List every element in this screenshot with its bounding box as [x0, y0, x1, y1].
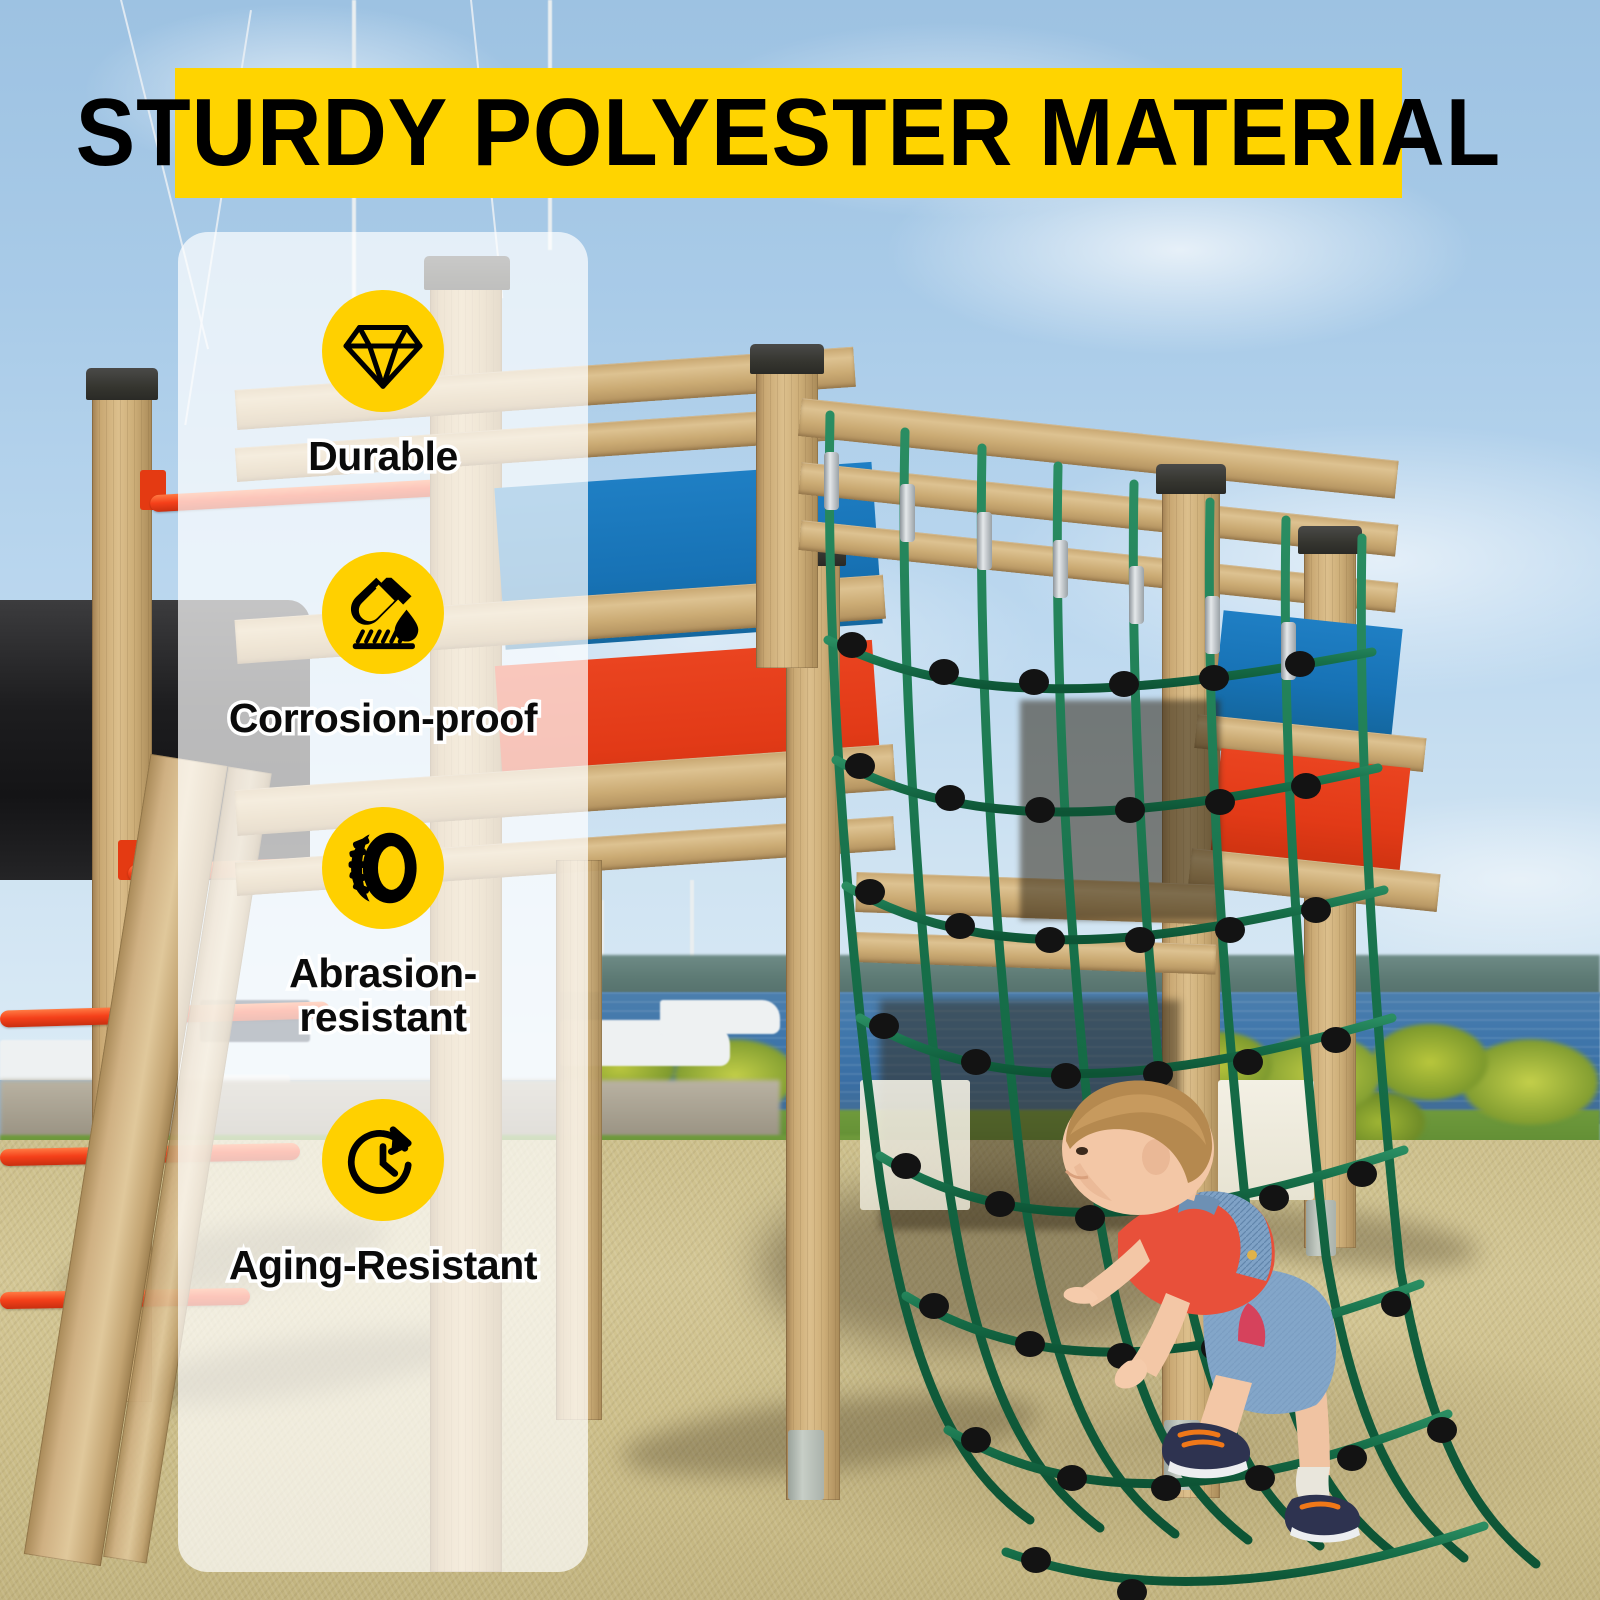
boat — [660, 1000, 780, 1034]
child-climbing — [1030, 1075, 1430, 1545]
blue-deck-panel — [1212, 610, 1402, 736]
feature-label: Abrasion- resistant — [289, 951, 477, 1040]
feature-label: Aging-Resistant — [229, 1243, 537, 1287]
feature-aging-resistant: Aging-Resistant — [178, 1099, 588, 1287]
test-tube-drop-icon — [322, 552, 444, 674]
page-title: STURDY POLYESTER MATERIAL — [76, 78, 1501, 188]
tire-icon — [322, 807, 444, 929]
feature-panel: Durable Co — [178, 232, 588, 1572]
feature-label: Corrosion-proof — [229, 696, 537, 740]
feature-label: Durable — [308, 434, 458, 478]
wooden-post — [786, 560, 840, 1500]
deck-shadow — [1020, 700, 1220, 920]
post-cap — [750, 344, 824, 374]
feature-abrasion-resistant: Abrasion- resistant — [178, 807, 588, 1040]
feature-durable: Durable — [178, 290, 588, 478]
feature-label-line1: Abrasion- — [289, 950, 477, 996]
feature-corrosion-proof: Corrosion-proof — [178, 552, 588, 740]
title-banner: STURDY POLYESTER MATERIAL — [175, 68, 1402, 198]
diamond-icon — [322, 290, 444, 412]
post-metal-foot — [788, 1430, 824, 1500]
post-cap — [1298, 526, 1362, 554]
post-cap — [86, 368, 158, 400]
clock-arrow-icon — [322, 1099, 444, 1221]
product-feature-image: STURDY POLYESTER MATERIAL Durable — [0, 0, 1600, 1600]
post-cap — [1156, 464, 1226, 494]
feature-label-line2: resistant — [299, 994, 466, 1040]
white-info-panel — [860, 1080, 970, 1210]
